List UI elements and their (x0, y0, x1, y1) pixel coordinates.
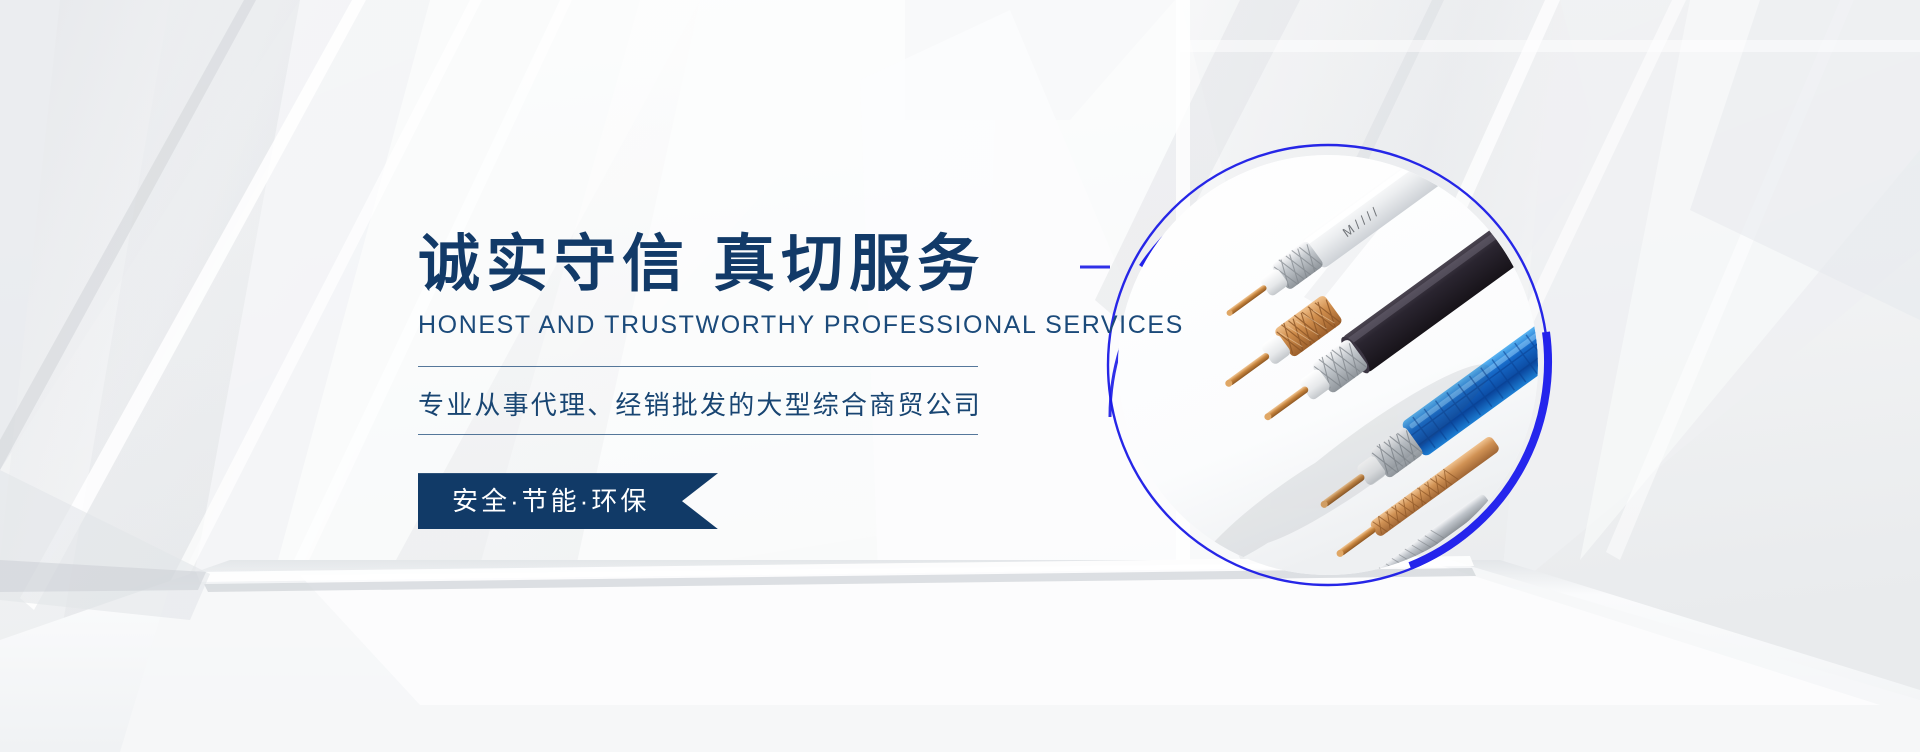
hero-banner: 诚实守信 真切服务 HONEST AND TRUSTWORTHY PROFESS… (0, 0, 1920, 752)
ribbon-label: 安全·节能·环保 (452, 473, 649, 529)
subtitle-chinese: 专业从事代理、经销批发的大型综合商贸公司 (418, 385, 1118, 422)
product-image-circle: M / / / / (1108, 145, 1548, 585)
coaxial-cables-illustration: M / / / / (1118, 155, 1538, 575)
banner-text-block: 诚实守信 真切服务 HONEST AND TRUSTWORTHY PROFESS… (418, 232, 1118, 534)
feature-ribbon-tag: 安全·节能·环保 (418, 473, 718, 529)
subtitle-english: HONEST AND TRUSTWORTHY PROFESSIONAL SERV… (418, 311, 1118, 340)
cable-photo: M / / / / (1118, 155, 1538, 575)
page-title: 诚实守信 真切服务 (418, 232, 1118, 297)
divider-top (418, 366, 978, 367)
divider-bottom (418, 434, 978, 435)
